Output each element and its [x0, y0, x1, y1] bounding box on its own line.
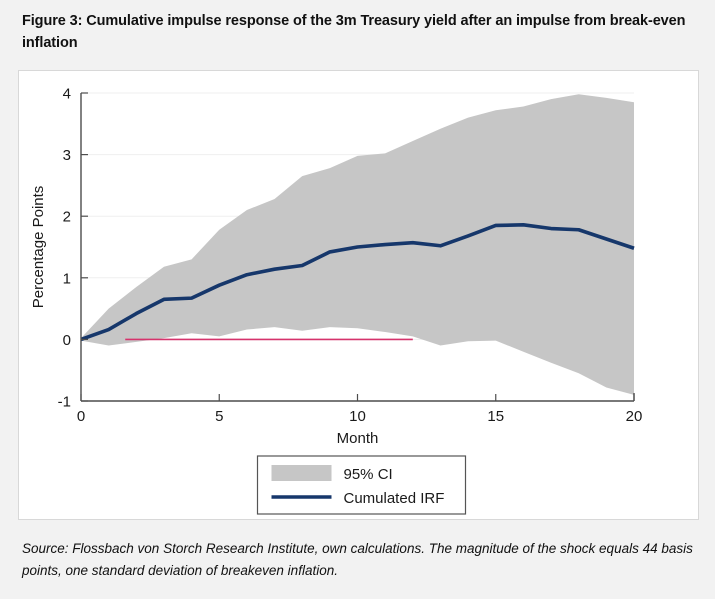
- y-tick-label: -1: [58, 394, 71, 411]
- x-axis-title: Month: [337, 430, 379, 447]
- y-tick-label: 3: [63, 147, 71, 164]
- legend-label-irf[interactable]: Cumulated IRF: [344, 490, 445, 507]
- x-tick-label: 20: [626, 408, 643, 425]
- legend-label-ci[interactable]: 95% CI: [344, 466, 393, 483]
- x-tick-label: 0: [77, 408, 85, 425]
- chart-canvas: 05101520 -101234 MonthPercentage Points …: [19, 71, 698, 519]
- legend-swatch-ci[interactable]: [272, 465, 332, 481]
- chart-legend[interactable]: 95% CICumulated IRF: [258, 456, 466, 514]
- y-tick-label: 1: [63, 270, 71, 287]
- source-note: Source: Flossbach von Storch Research In…: [22, 538, 694, 583]
- x-tick-label: 15: [487, 408, 504, 425]
- y-tick-label: 4: [63, 86, 71, 103]
- x-axis-ticks: 05101520: [77, 394, 643, 425]
- x-tick-label: 5: [215, 408, 223, 425]
- y-axis-ticks: -101234: [58, 86, 88, 411]
- figure-title: Figure 3: Cumulative impulse response of…: [0, 0, 715, 55]
- y-tick-label: 2: [63, 209, 71, 226]
- ci-band-area: [81, 94, 634, 395]
- impulse-response-chart: 05101520 -101234 MonthPercentage Points …: [19, 71, 698, 519]
- y-axis-title: Percentage Points: [30, 186, 47, 309]
- x-tick-label: 10: [349, 408, 366, 425]
- chart-panel: 05101520 -101234 MonthPercentage Points …: [18, 70, 699, 520]
- y-tick-label: 0: [63, 332, 71, 349]
- ci-band-path: [81, 94, 634, 395]
- figure-container: Figure 3: Cumulative impulse response of…: [0, 0, 715, 599]
